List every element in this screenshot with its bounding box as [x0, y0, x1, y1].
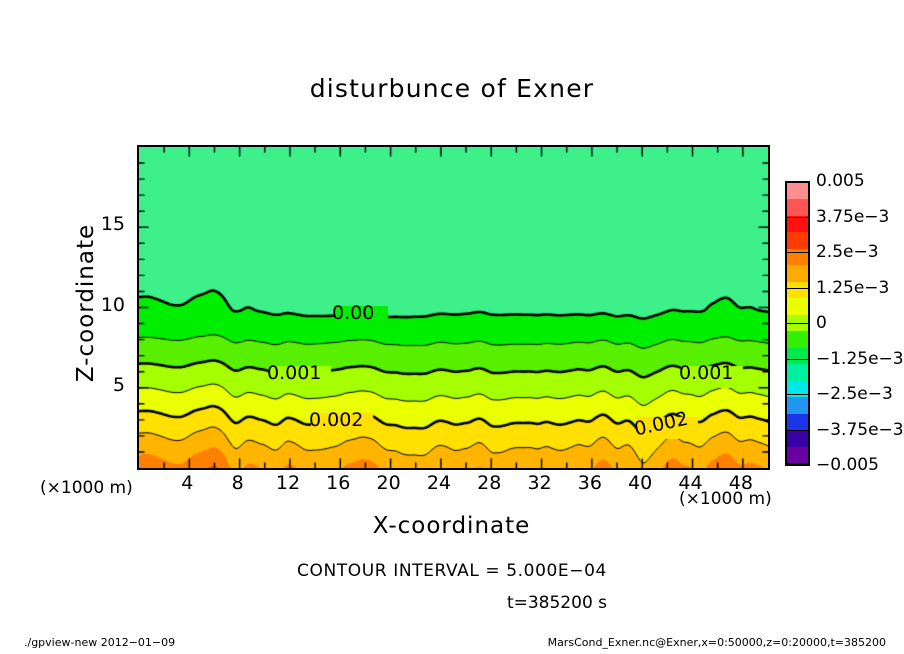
colorbar-band: [787, 414, 808, 430]
colorbar-separator: [785, 252, 810, 253]
colorbar-band: [787, 298, 808, 314]
colorbar-tick-label: −3.75e−3: [816, 420, 904, 440]
colorbar-band: [787, 183, 808, 199]
colorbar-band: [787, 331, 808, 347]
contour-value-label: 0.00: [332, 302, 374, 324]
colorbar-tick-label: 2.5e−3: [816, 242, 879, 262]
colorbar-tick-label: 3.75e−3: [816, 207, 889, 227]
colorbar-band: [787, 216, 808, 232]
z-axis-units: (×1000 m): [40, 478, 133, 498]
x-tick-label: 20: [364, 472, 414, 494]
contour-value-label: 0.001: [679, 362, 733, 384]
x-axis-units: (×1000 m): [679, 489, 772, 509]
footer-command: ./gpview-new 2012−01−09: [24, 636, 175, 649]
colorbar-separator: [785, 323, 810, 324]
x-tick-label: 8: [213, 472, 263, 494]
x-tick-label: 40: [615, 472, 665, 494]
colorbar-tick-label: −1.25e−3: [816, 349, 904, 369]
colorbar-tick-label: −2.5e−3: [816, 384, 893, 404]
y-axis-title: Z-coordinate: [73, 193, 99, 413]
x-tick-label: 4: [162, 472, 212, 494]
colorbar-separator: [785, 465, 810, 466]
figure-canvas: disturbunce of Exner 0.000.0010.0010.002…: [0, 0, 904, 654]
x-tick-label: 16: [313, 472, 363, 494]
x-tick-label: 28: [464, 472, 514, 494]
x-tick-label: 12: [263, 472, 313, 494]
contour-value-label: 0.002: [309, 409, 363, 431]
colorbar-tick-label: 0.005: [816, 171, 865, 191]
time-annotation: t=385200 s: [0, 593, 904, 613]
contour-interval-note: CONTOUR INTERVAL = 5.000E−04: [0, 561, 904, 581]
colorbar-separator: [785, 394, 810, 395]
colorbar-tick-label: −0.005: [816, 455, 879, 475]
colorbar-separator: [785, 288, 810, 289]
colorbar-separator: [785, 430, 810, 431]
x-axis-title: X-coordinate: [137, 513, 766, 539]
colorbar-band: [787, 232, 808, 248]
colorbar-band: [787, 430, 808, 446]
colorbar-tick-label: 1.25e−3: [816, 278, 889, 298]
colorbar-separator: [785, 217, 810, 218]
page-title: disturbunce of Exner: [0, 74, 904, 103]
colorbar-band: [787, 364, 808, 380]
colorbar-band: [787, 397, 808, 413]
x-tick-label: 32: [515, 472, 565, 494]
contour-value-label: 0.001: [267, 362, 321, 384]
x-tick-label: 36: [565, 472, 615, 494]
footer-source: MarsCond_Exner.nc@Exner,x=0:50000,z=0:20…: [548, 636, 886, 649]
colorbar-band: [787, 265, 808, 281]
x-tick-label: 24: [414, 472, 464, 494]
colorbar-band: [787, 348, 808, 364]
colorbar-band: [787, 199, 808, 215]
colorbar-band: [787, 282, 808, 298]
colorbar-separator: [785, 359, 810, 360]
colorbar-band: [787, 447, 808, 463]
colorbar-tick-label: 0: [816, 313, 827, 333]
